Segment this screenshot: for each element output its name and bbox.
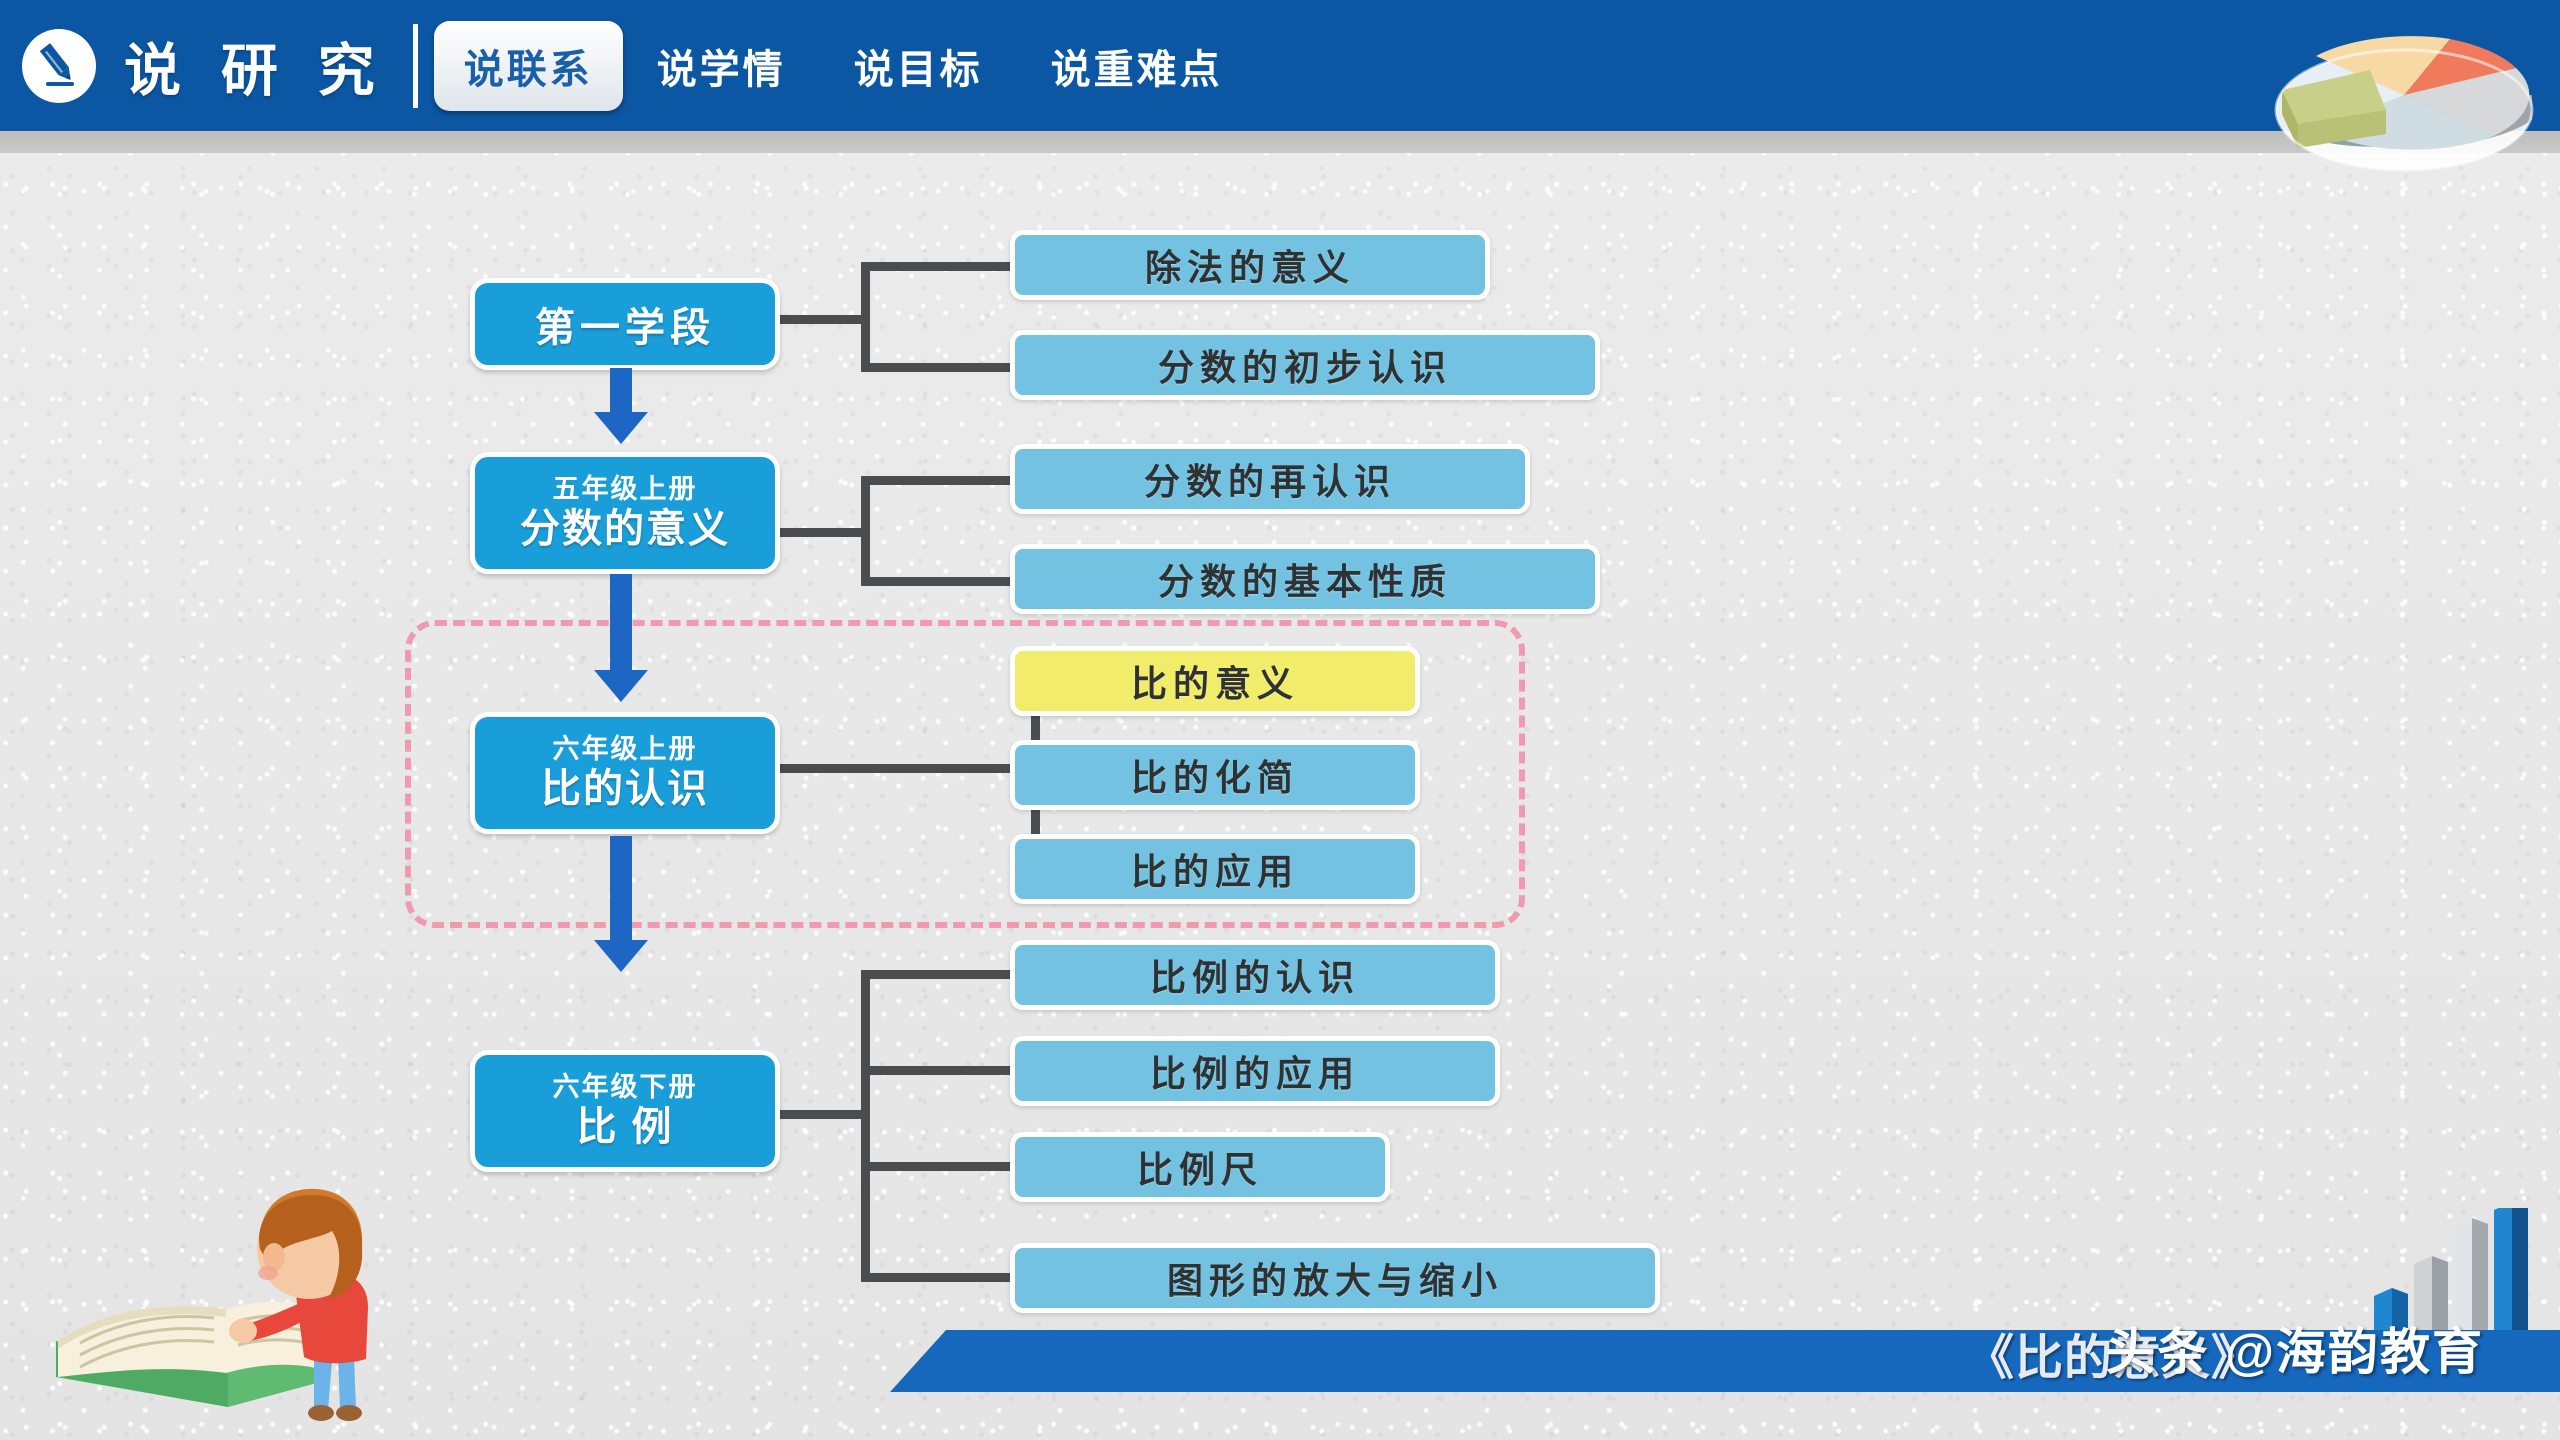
leaf-label: 比的意义 xyxy=(1131,655,1299,707)
connector-stub-1 xyxy=(778,315,868,324)
tab-shuozhongnandian[interactable]: 说重难点 xyxy=(1017,23,1257,109)
stage-node-4[interactable]: 六年级下册 比 例 xyxy=(470,1050,780,1172)
stage-node-3-sublabel: 六年级上册 xyxy=(553,734,698,765)
boy-reading-book-icon xyxy=(28,1145,418,1430)
flow-arrow-2 xyxy=(590,574,652,707)
leaf-bili-de-yingyong[interactable]: 比例的应用 xyxy=(1010,1036,1500,1106)
stage-node-4-sublabel: 六年级下册 xyxy=(553,1072,698,1103)
connector-branch-1-2 xyxy=(861,363,1016,372)
connector-spine-1 xyxy=(861,262,870,372)
connector-stub-2 xyxy=(778,528,868,537)
leaf-label: 分数的初步认识 xyxy=(1158,339,1452,391)
top-navigation-bar: 说 研 究 说联系 说学情 说目标 说重难点 xyxy=(0,0,2560,131)
stage-node-1-label: 第一学段 xyxy=(535,295,715,353)
leaf-label: 分数的再认识 xyxy=(1144,453,1396,505)
leaf-label: 除法的意义 xyxy=(1145,239,1355,291)
leaf-fenshu-de-jiben-xingzhi[interactable]: 分数的基本性质 xyxy=(1010,544,1600,614)
stage-node-3[interactable]: 六年级上册 比的认识 xyxy=(470,712,780,834)
connector-spine-2 xyxy=(861,476,870,586)
leaf-bi-de-huajian[interactable]: 比的化简 xyxy=(1010,740,1420,810)
connector-spine-4 xyxy=(861,970,870,1282)
connector-branch-1-1 xyxy=(861,262,1016,271)
leaf-bili-de-renshi[interactable]: 比例的认识 xyxy=(1010,940,1500,1010)
leaf-label: 比例的认识 xyxy=(1150,949,1360,1001)
leaf-label: 比例的应用 xyxy=(1150,1045,1360,1097)
tab-list: 说联系 说学情 说目标 说重难点 xyxy=(434,21,1257,111)
connector-stub-4 xyxy=(778,1110,868,1119)
header-divider xyxy=(413,24,418,108)
leaf-label: 比的应用 xyxy=(1131,843,1299,895)
leaf-chufa-de-yiyi[interactable]: 除法的意义 xyxy=(1010,230,1490,300)
footer-watermark: 头条 @海韵教育 xyxy=(2105,1312,2484,1384)
stage-node-3-label: 比的认识 xyxy=(541,766,709,812)
connector-branch-4-2 xyxy=(861,1066,1016,1075)
pencil-circle-icon xyxy=(22,29,96,103)
leaf-label: 图形的放大与缩小 xyxy=(1167,1252,1503,1304)
connector-branch-4-1 xyxy=(861,970,1016,979)
leaf-bi-de-yiyi[interactable]: 比的意义 xyxy=(1010,646,1420,716)
leaf-fenshu-de-chubu-renshi[interactable]: 分数的初步认识 xyxy=(1010,330,1600,400)
stage-node-2[interactable]: 五年级上册 分数的意义 xyxy=(470,452,780,574)
stage-node-2-label: 分数的意义 xyxy=(520,506,730,552)
connector-branch-4-3 xyxy=(861,1162,1016,1171)
leaf-label: 比的化简 xyxy=(1131,749,1299,801)
leaf-bi-de-yingyong[interactable]: 比的应用 xyxy=(1010,834,1420,904)
connector-stub-3 xyxy=(778,764,1038,773)
tab-shuomubiao[interactable]: 说目标 xyxy=(820,23,1017,109)
header-shadow-strip xyxy=(0,131,2560,153)
leaf-bili-chi[interactable]: 比例尺 xyxy=(1010,1132,1390,1202)
stage-node-1[interactable]: 第一学段 xyxy=(470,278,780,370)
connector-branch-2-1 xyxy=(861,476,1016,485)
stage-node-2-sublabel: 五年级上册 xyxy=(553,474,698,505)
tab-shuolianxi[interactable]: 说联系 xyxy=(434,21,623,111)
leaf-label: 比例尺 xyxy=(1137,1141,1263,1193)
leaf-label: 分数的基本性质 xyxy=(1158,553,1452,605)
leaf-tuxing-de-fangda-yu-suoxiao[interactable]: 图形的放大与缩小 xyxy=(1010,1243,1660,1313)
connector-branch-4-4 xyxy=(861,1273,1016,1282)
brand-title: 说 研 究 xyxy=(124,25,387,107)
tab-shuoxueqing[interactable]: 说学情 xyxy=(623,23,820,109)
flow-arrow-1 xyxy=(590,368,652,449)
connector-branch-2-2 xyxy=(861,577,1016,586)
leaf-fenshu-de-zai-renshi[interactable]: 分数的再认识 xyxy=(1010,444,1530,514)
flow-arrow-3 xyxy=(590,836,652,977)
stage-node-4-label: 比 例 xyxy=(576,1104,673,1150)
slide-canvas: 说 研 究 说联系 说学情 说目标 说重难点 xyxy=(0,0,2560,1440)
